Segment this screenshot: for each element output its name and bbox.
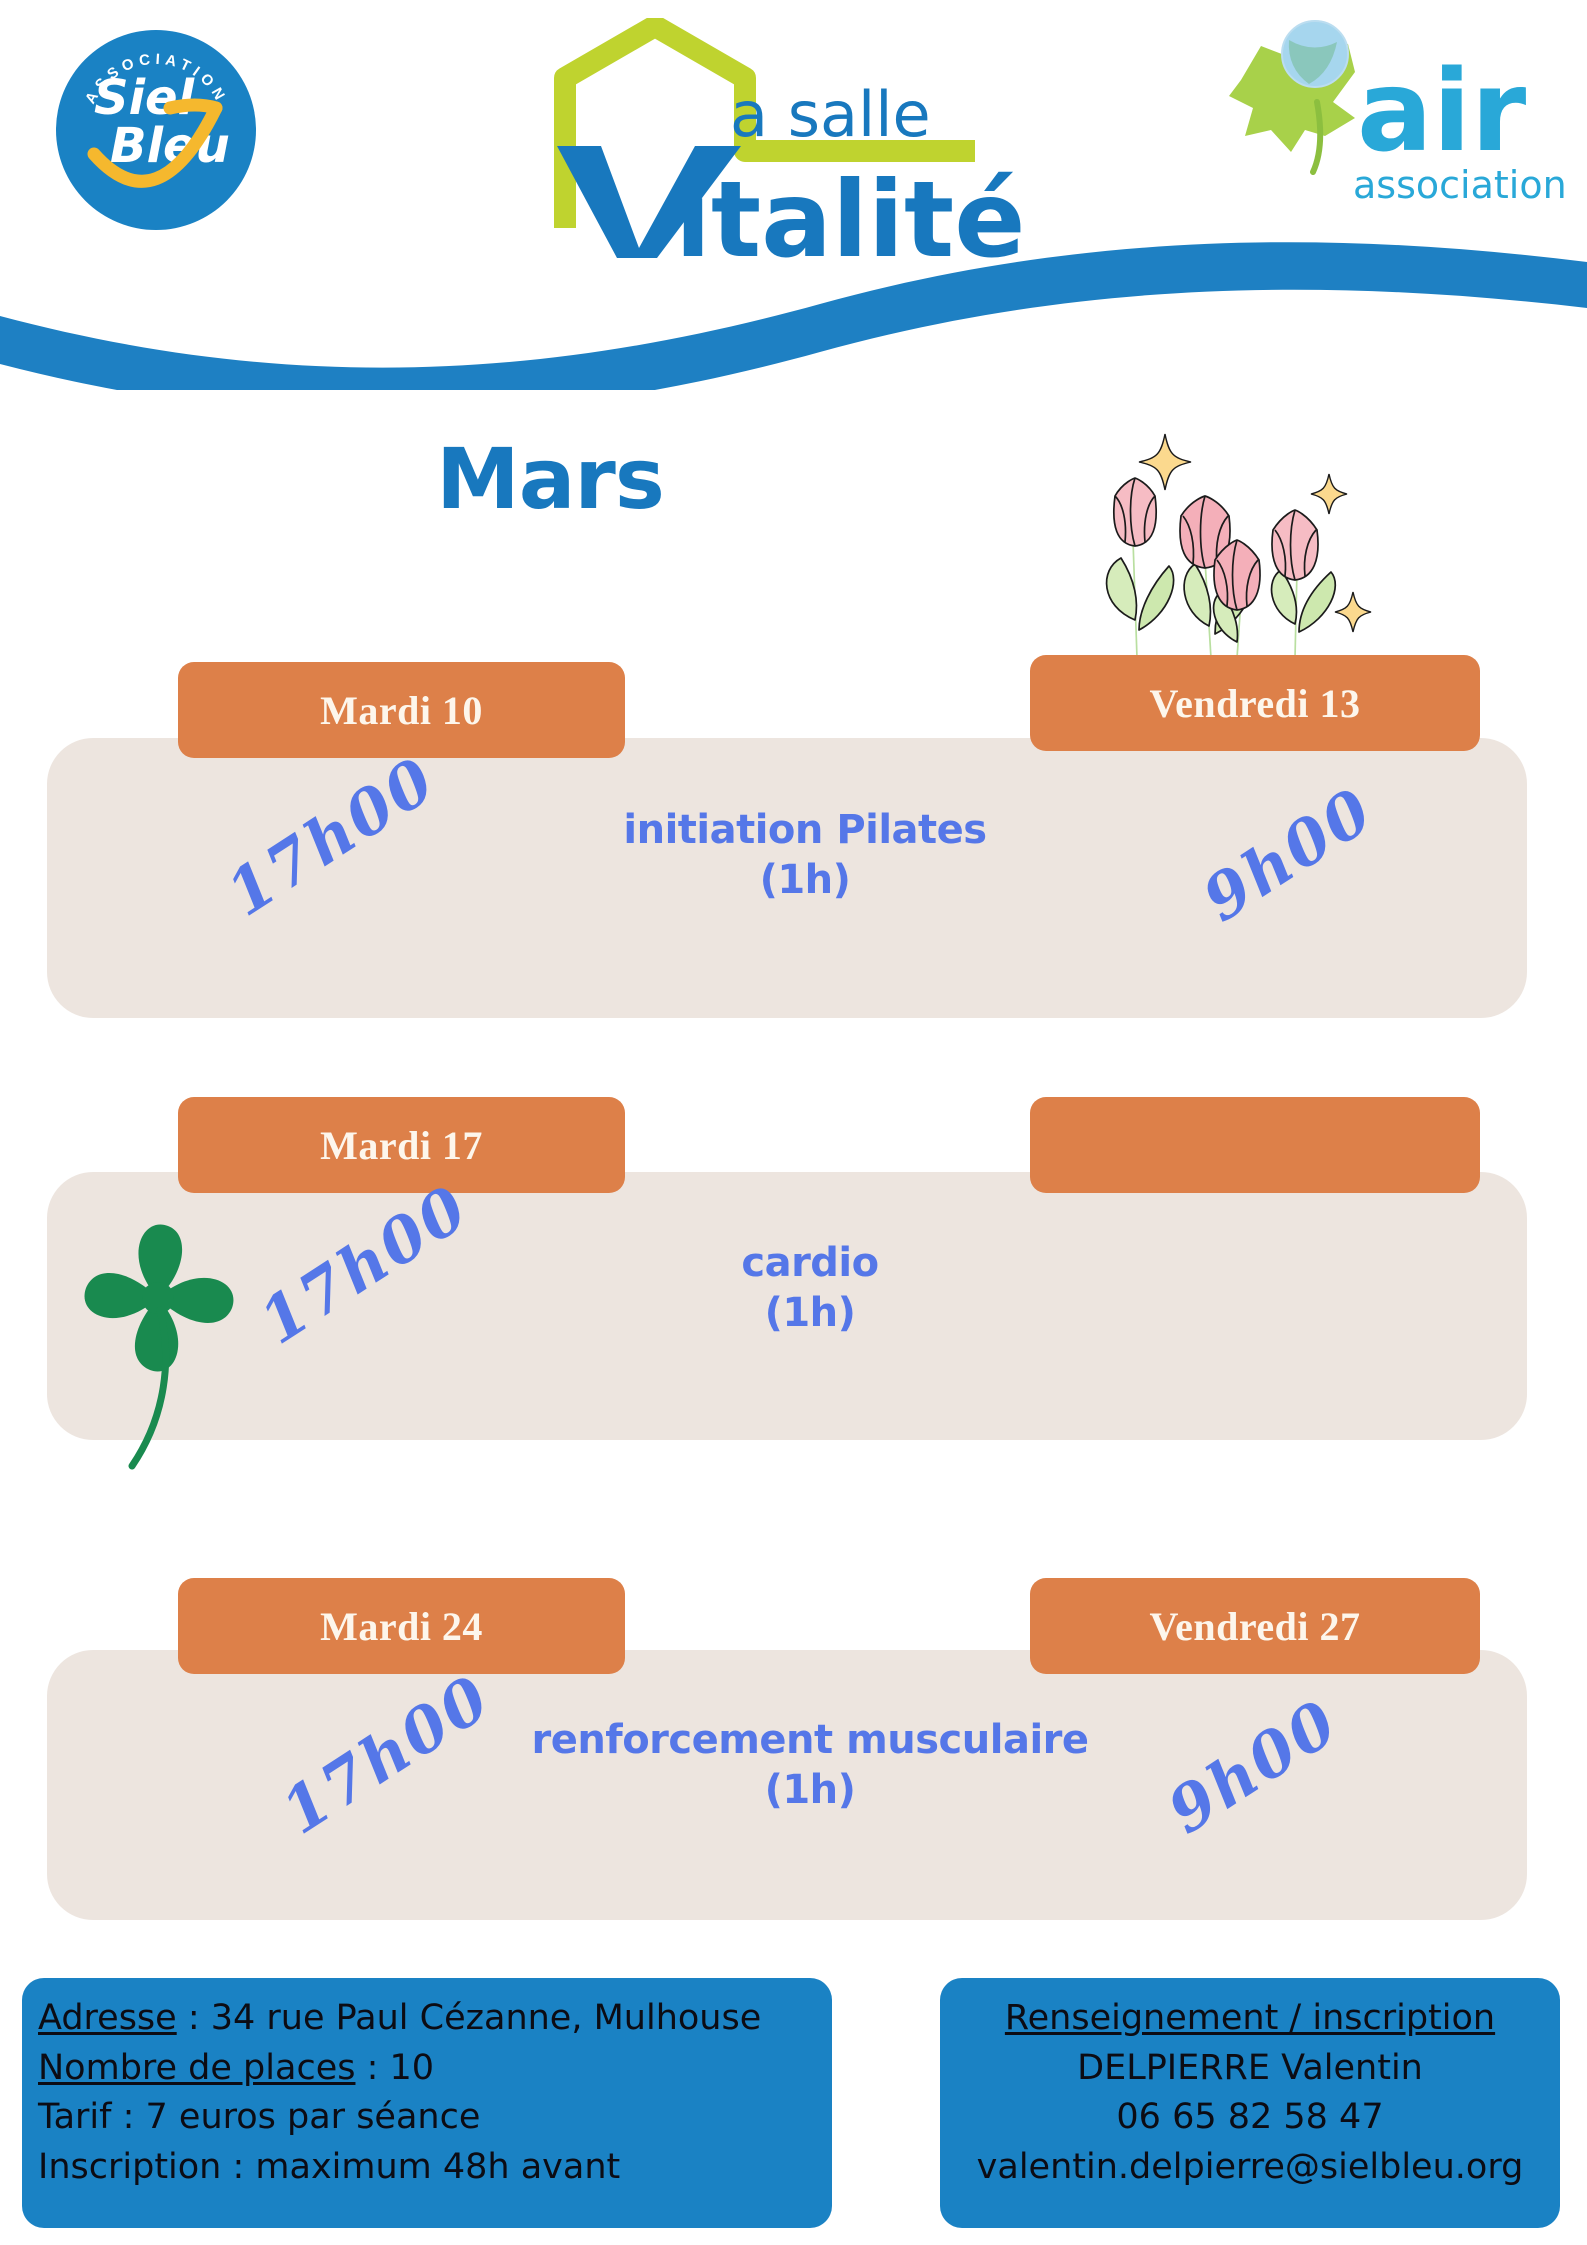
row-3-activity-duration: (1h) (480, 1765, 1140, 1815)
air-association-logo-icon: air association (1205, 10, 1565, 215)
contact-heading: Renseignement / inscription (950, 1994, 1550, 2044)
tulips-icon (1065, 420, 1375, 675)
row-3-day-right-tab[interactable]: Vendredi 27 (1030, 1578, 1480, 1674)
contact-info-box: Renseignement / inscription DELPIERRE Va… (940, 1978, 1560, 2228)
row-2-day-left-tab[interactable]: Mardi 17 (178, 1097, 625, 1193)
address-label: Adresse (38, 1998, 177, 2038)
row-3-activity-name: renforcement musculaire (480, 1715, 1140, 1765)
svg-text:a salle: a salle (730, 78, 931, 151)
row-2-activity: cardio (1h) (530, 1238, 1090, 1338)
places-value: : 10 (355, 2048, 434, 2088)
row-1-activity-duration: (1h) (510, 855, 1100, 905)
row-3-activity: renforcement musculaire (1h) (480, 1715, 1140, 1815)
address-line: Adresse : 34 rue Paul Cézanne, Mulhouse (38, 1994, 818, 2044)
contact-email[interactable]: valentin.delpierre@sielbleu.org (950, 2143, 1550, 2193)
row-1-activity-name: initiation Pilates (510, 805, 1100, 855)
row-1-day-right-tab[interactable]: Vendredi 13 (1030, 655, 1480, 751)
contact-phone[interactable]: 06 65 82 58 47 (950, 2093, 1550, 2143)
price-line: Tarif : 7 euros par séance (38, 2093, 818, 2143)
row-1-activity: initiation Pilates (1h) (510, 805, 1100, 905)
poster-canvas: ASSOCIATION Siel Bleu a salle italité ai… (0, 0, 1587, 2245)
row-3-day-left-tab[interactable]: Mardi 24 (178, 1578, 625, 1674)
contact-name: DELPIERRE Valentin (950, 2044, 1550, 2094)
four-leaf-clover-icon (58, 1180, 278, 1470)
places-label: Nombre de places (38, 2048, 355, 2088)
svg-text:air: air (1357, 47, 1526, 177)
row-2-activity-duration: (1h) (530, 1288, 1090, 1338)
row-1-day-left-tab[interactable]: Mardi 10 (178, 662, 625, 758)
row-2-day-right-tab[interactable] (1030, 1097, 1480, 1193)
blue-wave-decoration (0, 200, 1587, 390)
address-value: : 34 rue Paul Cézanne, Mulhouse (177, 1998, 762, 2038)
places-line: Nombre de places : 10 (38, 2044, 818, 2094)
practical-info-box: Adresse : 34 rue Paul Cézanne, Mulhouse … (22, 1978, 832, 2228)
row-2-activity-name: cardio (530, 1238, 1090, 1288)
page-title: Mars (0, 430, 1100, 528)
registration-line: Inscription : maximum 48h avant (38, 2143, 818, 2193)
poster-header: ASSOCIATION Siel Bleu a salle italité ai… (0, 0, 1587, 390)
